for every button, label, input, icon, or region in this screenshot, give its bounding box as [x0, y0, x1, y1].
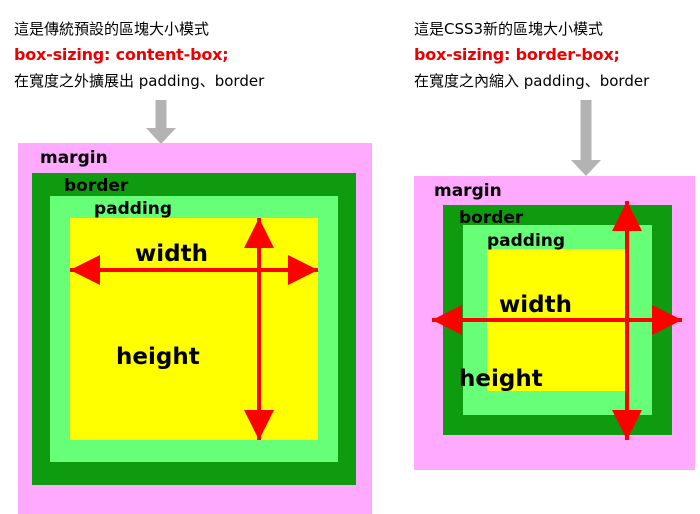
arrow-head-left [70, 255, 100, 285]
height-label: height [116, 346, 200, 369]
arrow-head-left [432, 305, 462, 335]
caption-left-line1: 這是傳統預設的區塊大小模式 [14, 16, 264, 42]
arrow-head-down [612, 410, 642, 440]
caption-right-code: box-sizing: border-box; [414, 42, 649, 68]
margin-label: margin [434, 183, 502, 200]
width-label: width [499, 294, 572, 317]
arrow-shaft [581, 100, 592, 160]
arrow-shaft [156, 100, 167, 128]
arrow-head-right [288, 255, 318, 285]
height-measure-arrow [244, 218, 274, 440]
caption-left-line3: 在寬度之外擴展出 padding、border [14, 68, 264, 94]
height-label: height [459, 368, 543, 391]
arrow-head [146, 128, 176, 144]
arrow-head-down [244, 410, 274, 440]
arrow-line [432, 318, 682, 322]
margin-label: margin [40, 150, 108, 167]
caption-left-code: box-sizing: content-box; [14, 42, 264, 68]
arrow-head-right [652, 305, 682, 335]
height-measure-arrow [613, 201, 641, 440]
arrow-line [625, 201, 629, 440]
caption-content-box: 這是傳統預設的區塊大小模式 box-sizing: content-box; 在… [14, 16, 264, 94]
arrow-line [257, 218, 261, 440]
padding-label: padding [94, 201, 172, 218]
caption-right-line3: 在寬度之內縮入 padding、border [414, 68, 649, 94]
width-label: width [135, 243, 208, 266]
caption-border-box: 這是CSS3新的區塊大小模式 box-sizing: border-box; 在… [414, 16, 649, 94]
caption-right-line1: 這是CSS3新的區塊大小模式 [414, 16, 649, 42]
padding-label: padding [487, 233, 565, 250]
arrow-head [571, 160, 601, 176]
arrow-line [70, 268, 318, 272]
border-label: border [64, 178, 128, 195]
arrow-head-up [244, 218, 274, 248]
box-model-diagram-content-box: margin border padding width height [18, 143, 372, 514]
box-model-diagram-border-box: margin border padding width height [414, 176, 695, 470]
border-label: border [459, 210, 523, 227]
down-arrow-icon-right [571, 100, 601, 176]
down-arrow-icon-left [146, 100, 176, 144]
arrow-head-up [612, 201, 642, 231]
